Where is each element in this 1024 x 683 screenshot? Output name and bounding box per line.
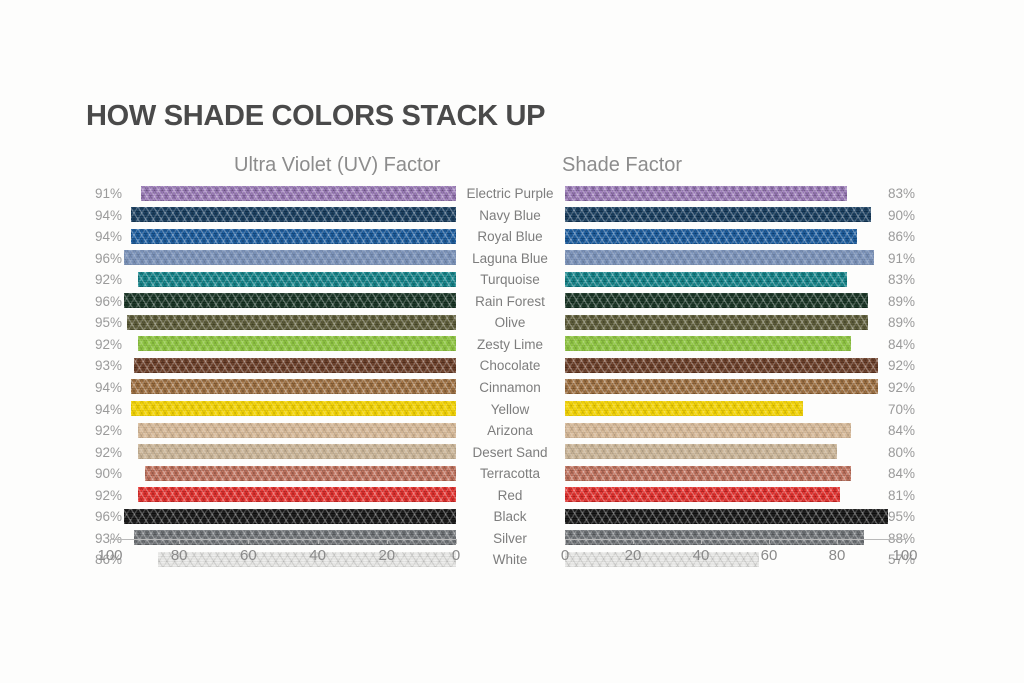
- uv-bar: [131, 229, 456, 244]
- uv-bar: [134, 358, 456, 373]
- color-name-label: Zesty Lime: [458, 337, 562, 352]
- color-name-label: Turquoise: [458, 272, 562, 287]
- uv-bar: [124, 250, 456, 265]
- chart-row: 92%Desert Sand80%: [0, 442, 1024, 464]
- uv-percent-label: 93%: [84, 358, 122, 373]
- chart-row: 96%Laguna Blue91%: [0, 248, 1024, 270]
- axis-tick: [701, 539, 702, 544]
- uv-percent-label: 92%: [84, 445, 122, 460]
- color-name-label: Laguna Blue: [458, 251, 562, 266]
- uv-bar: [127, 315, 456, 330]
- uv-bar: [131, 379, 456, 394]
- uv-bar: [145, 466, 456, 481]
- axis-tick-label: 80: [171, 547, 188, 564]
- color-name-label: Arizona: [458, 423, 562, 438]
- uv-bar: [158, 552, 456, 567]
- chart-row: 94%Yellow70%: [0, 399, 1024, 421]
- shade-bar: [565, 315, 868, 330]
- color-name-label: Yellow: [458, 402, 562, 417]
- color-name-label: Cinnamon: [458, 380, 562, 395]
- shade-percent-label: 89%: [888, 315, 926, 330]
- uv-bar: [138, 487, 456, 502]
- uv-percent-label: 95%: [84, 315, 122, 330]
- uv-bar: [131, 207, 456, 222]
- axis-tick-label: 60: [240, 547, 257, 564]
- chart-row: 93%Chocolate92%: [0, 355, 1024, 377]
- shade-bar: [565, 186, 847, 201]
- uv-percent-label: 90%: [84, 466, 122, 481]
- axis-tick: [769, 539, 770, 544]
- shade-bar: [565, 379, 878, 394]
- chart-row: 92%Arizona84%: [0, 420, 1024, 442]
- shade-percent-label: 89%: [888, 294, 926, 309]
- shade-bar: [565, 552, 759, 567]
- shade-percent-label: 92%: [888, 380, 926, 395]
- uv-percent-label: 92%: [84, 337, 122, 352]
- uv-percent-label: 94%: [84, 380, 122, 395]
- uv-percent-label: 92%: [84, 423, 122, 438]
- shade-bar: [565, 358, 878, 373]
- axis-tick-label: 100: [97, 547, 122, 564]
- color-name-label: Navy Blue: [458, 208, 562, 223]
- axis-tick-label: 40: [693, 547, 710, 564]
- axis-tick: [387, 539, 388, 544]
- shade-percent-label: 86%: [888, 229, 926, 244]
- shade-bar: [565, 229, 857, 244]
- uv-percent-label: 92%: [84, 488, 122, 503]
- color-name-label: White: [458, 552, 562, 567]
- shade-percent-label: 95%: [888, 509, 926, 524]
- color-name-label: Chocolate: [458, 358, 562, 373]
- chart-row: 96%Rain Forest89%: [0, 291, 1024, 313]
- chart-row: 91%Electric Purple83%: [0, 183, 1024, 205]
- shade-bar: [565, 487, 840, 502]
- axis-tick: [905, 539, 906, 544]
- shade-percent-label: 92%: [888, 358, 926, 373]
- uv-percent-label: 96%: [84, 251, 122, 266]
- axis-tick-label: 60: [761, 547, 778, 564]
- axis-tick: [837, 539, 838, 544]
- shade-bar: [565, 336, 851, 351]
- page-title: HOW SHADE COLORS STACK UP: [86, 100, 545, 133]
- axis-tick-label: 80: [829, 547, 846, 564]
- shade-bar: [565, 444, 837, 459]
- chart-row: 95%Olive89%: [0, 312, 1024, 334]
- axis-tick-label: 40: [309, 547, 326, 564]
- axis-line-uv: [110, 539, 456, 540]
- color-name-label: Red: [458, 488, 562, 503]
- shade-bar: [565, 207, 871, 222]
- shade-percent-label: 84%: [888, 466, 926, 481]
- chart-row: 92%Turquoise83%: [0, 269, 1024, 291]
- axis-tick: [110, 539, 111, 544]
- axis-tick-label: 20: [625, 547, 642, 564]
- color-name-label: Electric Purple: [458, 186, 562, 201]
- shade-percent-label: 83%: [888, 186, 926, 201]
- color-name-label: Rain Forest: [458, 294, 562, 309]
- shade-bar: [565, 293, 868, 308]
- panel-heading-uv: Ultra Violet (UV) Factor: [234, 154, 440, 177]
- shade-bar: [565, 530, 864, 545]
- chart-row: 96%Black95%: [0, 506, 1024, 528]
- chart-row: 90%Terracotta84%: [0, 463, 1024, 485]
- shade-bar: [565, 423, 851, 438]
- panel-heading-shade: Shade Factor: [562, 154, 682, 177]
- chart-row: 94%Cinnamon92%: [0, 377, 1024, 399]
- axis-tick-label: 20: [378, 547, 395, 564]
- chart-row: 86%White57%: [0, 549, 1024, 571]
- uv-bar: [138, 272, 456, 287]
- uv-percent-label: 94%: [84, 402, 122, 417]
- shade-percent-label: 81%: [888, 488, 926, 503]
- axis-tick-label: 0: [561, 547, 569, 564]
- axis-tick: [633, 539, 634, 544]
- uv-bar: [131, 401, 456, 416]
- axis-tick-label: 0: [452, 547, 460, 564]
- chart-plot-area: Ultra Violet (UV) Factor Shade Factor 91…: [0, 150, 1024, 590]
- uv-bar: [124, 293, 456, 308]
- uv-percent-label: 92%: [84, 272, 122, 287]
- shade-bar: [565, 272, 847, 287]
- uv-bar: [124, 509, 456, 524]
- color-name-label: Terracotta: [458, 466, 562, 481]
- shade-percent-label: 70%: [888, 402, 926, 417]
- axis-tick: [456, 539, 457, 544]
- color-name-label: Royal Blue: [458, 229, 562, 244]
- shade-percent-label: 80%: [888, 445, 926, 460]
- color-name-label: Silver: [458, 531, 562, 546]
- shade-bar: [565, 509, 888, 524]
- shade-percent-label: 83%: [888, 272, 926, 287]
- chart-row: 92%Zesty Lime84%: [0, 334, 1024, 356]
- uv-percent-label: 94%: [84, 208, 122, 223]
- color-name-label: Desert Sand: [458, 445, 562, 460]
- uv-bar: [138, 336, 456, 351]
- shade-percent-label: 84%: [888, 337, 926, 352]
- chart-row: 94%Navy Blue90%: [0, 205, 1024, 227]
- shade-percent-label: 84%: [888, 423, 926, 438]
- chart-row: 94%Royal Blue86%: [0, 226, 1024, 248]
- uv-percent-label: 96%: [84, 294, 122, 309]
- uv-bar: [141, 186, 456, 201]
- shade-bar: [565, 401, 803, 416]
- axis-tick-label: 100: [892, 547, 917, 564]
- shade-bar: [565, 250, 874, 265]
- uv-percent-label: 91%: [84, 186, 122, 201]
- axis-tick: [179, 539, 180, 544]
- axis-tick: [248, 539, 249, 544]
- uv-bar: [134, 530, 456, 545]
- shade-bar: [565, 466, 851, 481]
- shade-percent-label: 90%: [888, 208, 926, 223]
- uv-bar: [138, 444, 456, 459]
- uv-percent-label: 96%: [84, 509, 122, 524]
- color-name-label: Black: [458, 509, 562, 524]
- color-name-label: Olive: [458, 315, 562, 330]
- axis-tick: [318, 539, 319, 544]
- shade-percent-label: 91%: [888, 251, 926, 266]
- uv-percent-label: 94%: [84, 229, 122, 244]
- axis-line-shade: [565, 539, 905, 540]
- chart-row: 92%Red81%: [0, 485, 1024, 507]
- axis-tick: [565, 539, 566, 544]
- uv-bar: [138, 423, 456, 438]
